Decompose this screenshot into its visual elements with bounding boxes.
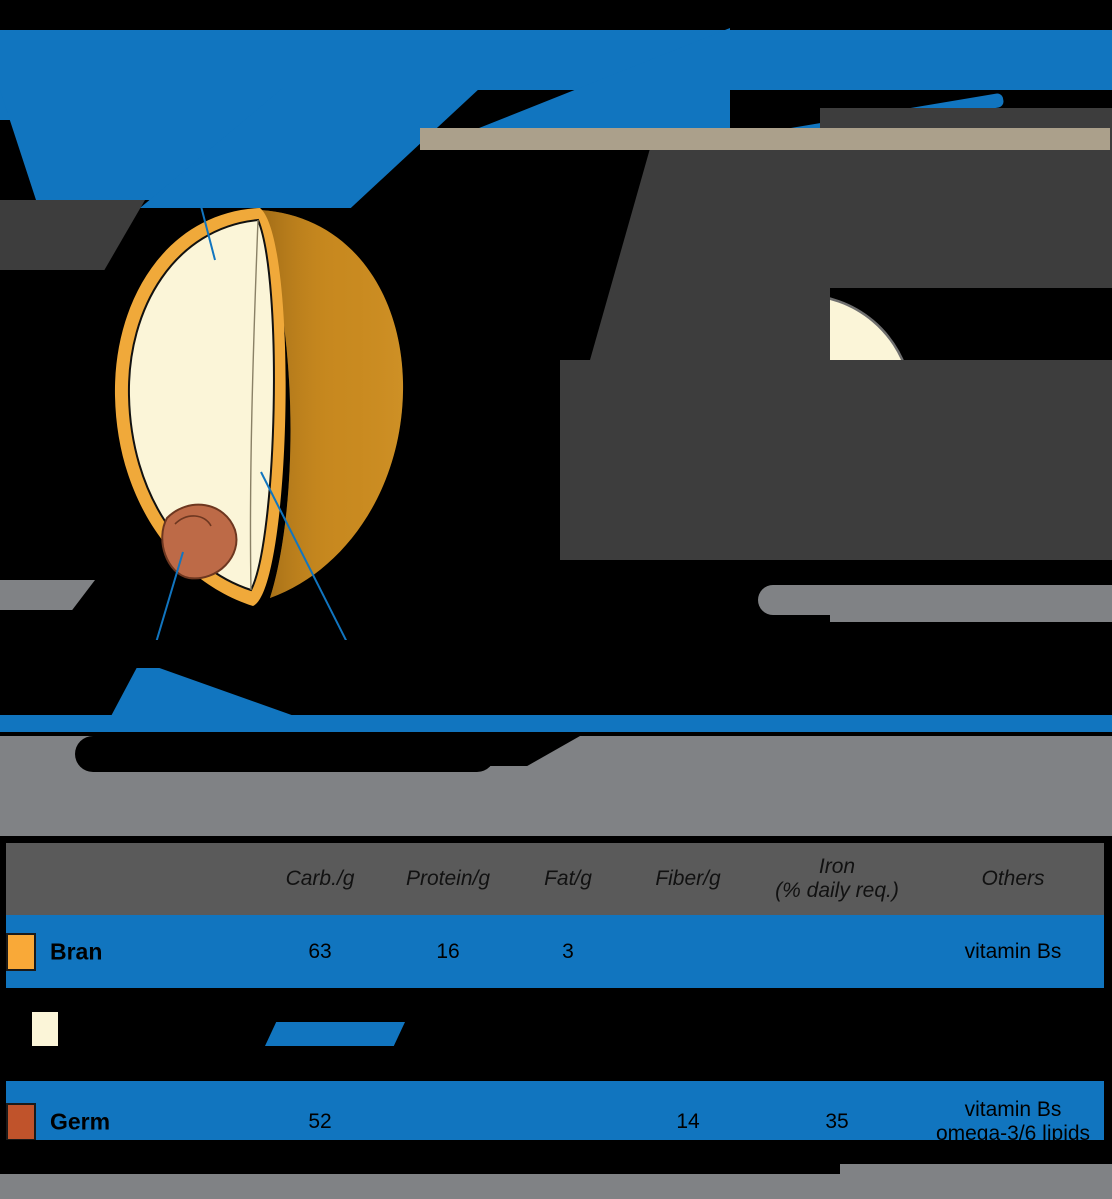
label-bar-mid-right-2	[830, 606, 1112, 622]
cell-fiber	[624, 915, 752, 988]
legend-swatch-germ	[6, 1103, 36, 1141]
col-header-iron-line2: (% daily req.)	[752, 879, 922, 903]
infographic-page: 14% 83% 3% Carb./g Protein/g Fat/g Fiber…	[0, 0, 1112, 1199]
col-header-fat: Fat/g	[512, 843, 624, 915]
cell-iron	[752, 915, 922, 988]
row-label-cell: Bran	[6, 915, 256, 988]
row-name: Germ	[50, 1109, 110, 1135]
label-block-top-left	[0, 30, 1112, 90]
cell-others-line1: vitamin Bs	[922, 1098, 1104, 1122]
footer-gray-band-notch	[0, 1164, 840, 1174]
col-header-fiber: Fiber/g	[624, 843, 752, 915]
table-header-row: Carb./g Protein/g Fat/g Fiber/g Iron (% …	[6, 843, 1104, 915]
endosperm-value-fragment	[265, 1022, 405, 1046]
table-row: Bran 63 16 3 vitamin Bs	[6, 915, 1104, 988]
col-header-others: Others	[922, 843, 1104, 915]
endosperm-swatch-visible	[32, 1012, 58, 1046]
table-row-gap	[6, 988, 1104, 998]
table-row-gap	[6, 1071, 1104, 1081]
legend-swatch-bran	[6, 933, 36, 971]
row-name: Bran	[50, 938, 102, 964]
col-header-protein: Protein/g	[384, 843, 512, 915]
cell-others: vitamin Bs	[922, 915, 1104, 988]
baseline-blue-flare	[110, 668, 300, 718]
col-header-carb: Carb./g	[256, 843, 384, 915]
tan-bar-top	[420, 128, 1110, 150]
cell-protein: 16	[384, 915, 512, 988]
col-header-blank	[6, 843, 256, 915]
caption-text-mask-2	[250, 736, 580, 766]
col-header-iron-line1: Iron	[752, 855, 922, 879]
label-block-pie-left	[590, 140, 830, 360]
nutrition-table: Carb./g Protein/g Fat/g Fiber/g Iron (% …	[6, 843, 1104, 1163]
cell-carb: 63	[256, 915, 384, 988]
col-header-iron: Iron (% daily req.)	[752, 843, 922, 915]
label-block-bottom-right	[560, 360, 1112, 590]
cell-fat: 3	[512, 915, 624, 988]
endosperm-row-mask	[0, 1004, 1112, 1060]
